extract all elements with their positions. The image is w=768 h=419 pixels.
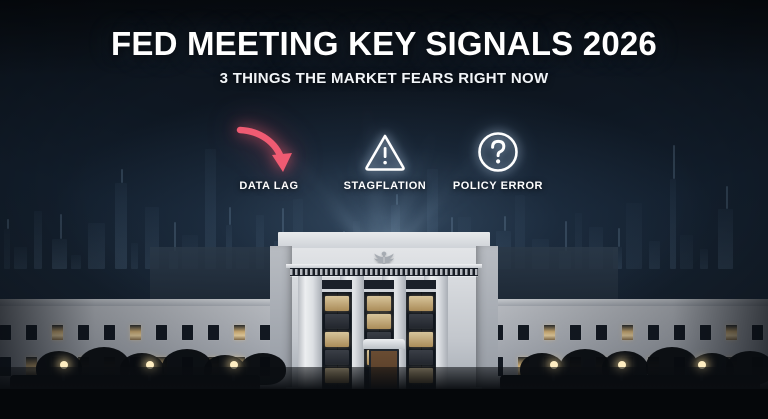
wing-window [182,325,193,340]
wing-window [130,325,141,340]
signal-icon-wrap-2 [320,126,450,178]
signal-label-1: DATA LAG [204,180,334,192]
wing-window [78,325,89,340]
promo-graphic: FED MEETING KEY SIGNALS 2026 3 THINGS TH… [0,0,768,419]
wing-window [700,325,711,340]
page-title: FED MEETING KEY SIGNALS 2026 [0,25,768,63]
wing-window [674,325,685,340]
signal-policy-error[interactable]: POLICY ERROR [433,126,563,192]
wing-window [518,325,529,340]
dentil-row [290,269,478,275]
wing-window [52,325,63,340]
signal-icon-wrap-3 [433,126,563,178]
ground-shadow [0,389,768,419]
page-subtitle: 3 THINGS THE MARKET FEARS RIGHT NOW [0,70,768,87]
wing-window [0,325,11,340]
signal-icon-wrap-1 [204,126,334,178]
wing-cornice-right [478,299,768,306]
signal-label-2: STAGFLATION [320,180,450,192]
curved-down-arrow-icon [234,124,304,180]
portico-attic [278,232,490,248]
wing-window [104,325,115,340]
wing-window [648,325,659,340]
dentil-cornice [290,268,478,276]
chart-tick [7,219,9,229]
signal-data-lag[interactable]: DATA LAG [204,126,334,192]
wing-window [544,325,555,340]
wing-window [570,325,581,340]
wing-window [752,325,763,340]
warning-triangle-icon [362,131,408,173]
federal-reserve-building [0,234,768,419]
question-circle-icon [475,129,521,175]
wing-cornice-left [0,299,290,306]
door-pediment [363,339,405,349]
signal-label-3: POLICY ERROR [433,180,563,192]
wing-window [156,325,167,340]
wing-window [596,325,607,340]
signal-stagflation[interactable]: STAGFLATION [320,126,450,192]
wing-window [26,325,37,340]
wing-window [234,325,245,340]
signal-row: DATA LAG STAGFLATION POLICY ERROR [0,126,768,210]
wing-window [726,325,737,340]
wing-window [622,325,633,340]
wing-window [208,325,219,340]
chart-tick [504,216,506,231]
